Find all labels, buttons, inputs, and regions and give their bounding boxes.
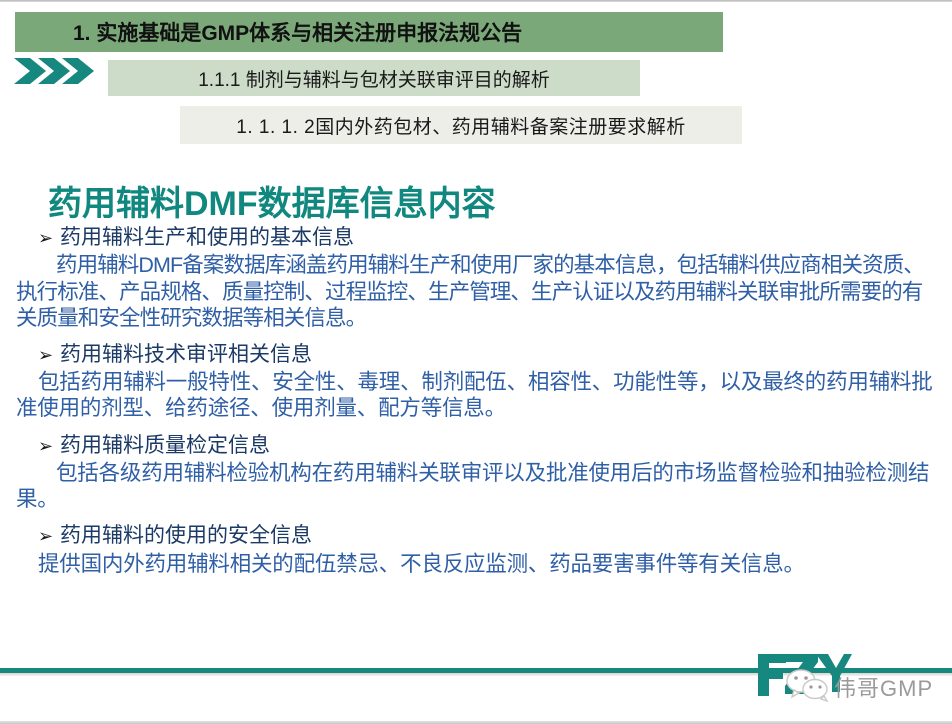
brand-name-text: 伟哥GMP xyxy=(834,671,933,703)
section-heading: ➢ 药用辅料生产和使用的基本信息 xyxy=(16,224,936,251)
section-heading-text: 药用辅料质量检定信息 xyxy=(46,432,270,459)
header-banner-level2: 1.1.1 制剂与辅料与包材关联审评目的解析 xyxy=(108,60,640,96)
section-heading: ➢ 药用辅料技术审评相关信息 xyxy=(16,341,936,368)
header-level1-text: 1. 实施基础是GMP体系与相关注册申报法规公告 xyxy=(73,17,522,47)
header-level3-text: 1. 1. 1. 2国内外药包材、药用辅料备案注册要求解析 xyxy=(236,112,685,139)
header-banner-level1: 1. 实施基础是GMP体系与相关注册申报法规公告 xyxy=(15,12,723,52)
section-heading: ➢ 药用辅料质量检定信息 xyxy=(16,432,936,459)
footer-brand: 伟哥GMP xyxy=(756,652,946,706)
header-level2-text: 1.1.1 制剂与辅料与包材关联审评目的解析 xyxy=(198,65,550,92)
section-heading-text: 药用辅料技术审评相关信息 xyxy=(46,341,312,368)
section-heading-text: 药用辅料的使用的安全信息 xyxy=(46,522,312,549)
slide-canvas: 1. 实施基础是GMP体系与相关注册申报法规公告 1.1.1 制剂与辅料与包材关… xyxy=(0,0,952,724)
section-block: ➢ 药用辅料的使用的安全信息 提供国内外药用辅料相关的配伍禁忌、不良反应监测、药… xyxy=(16,522,936,577)
slide-body: ➢ 药用辅料生产和使用的基本信息 药用辅料DMF备案数据库涵盖药用辅料生产和使用… xyxy=(16,224,936,581)
section-body-text: 包括各级药用辅料检验机构在药用辅料关联审评以及批准使用后的市场监督检验和抽验检测… xyxy=(16,460,936,512)
bullet-arrow-icon: ➢ xyxy=(16,525,46,548)
bullet-arrow-icon: ➢ xyxy=(16,435,46,458)
section-block: ➢ 药用辅料技术审评相关信息 包括药用辅料一般特性、安全性、毒理、制剂配伍、相容… xyxy=(16,341,936,422)
section-block: ➢ 药用辅料质量检定信息 包括各级药用辅料检验机构在药用辅料关联审评以及批准使用… xyxy=(16,432,936,513)
wechat-icon xyxy=(786,668,830,707)
section-body-text: 提供国内外药用辅料相关的配伍禁忌、不良反应监测、药品要害事件等有关信息。 xyxy=(16,551,936,577)
top-divider xyxy=(0,0,952,2)
header-banner-level3: 1. 1. 1. 2国内外药包材、药用辅料备案注册要求解析 xyxy=(180,106,742,144)
section-heading: ➢ 药用辅料的使用的安全信息 xyxy=(16,522,936,549)
chevron-arrows-icon xyxy=(12,56,98,86)
section-body-text: 包括药用辅料一般特性、安全性、毒理、制剂配伍、相容性、功能性等，以及最终的药用辅… xyxy=(16,369,936,421)
section-block: ➢ 药用辅料生产和使用的基本信息 药用辅料DMF备案数据库涵盖药用辅料生产和使用… xyxy=(16,224,936,331)
bullet-arrow-icon: ➢ xyxy=(16,344,46,367)
section-body-text: 药用辅料DMF备案数据库涵盖药用辅料生产和使用厂家的基本信息，包括辅料供应商相关… xyxy=(16,252,936,331)
section-heading-text: 药用辅料生产和使用的基本信息 xyxy=(46,224,354,251)
slide-title: 药用辅料DMF数据库信息内容 xyxy=(48,176,496,225)
bullet-arrow-icon: ➢ xyxy=(16,227,46,250)
